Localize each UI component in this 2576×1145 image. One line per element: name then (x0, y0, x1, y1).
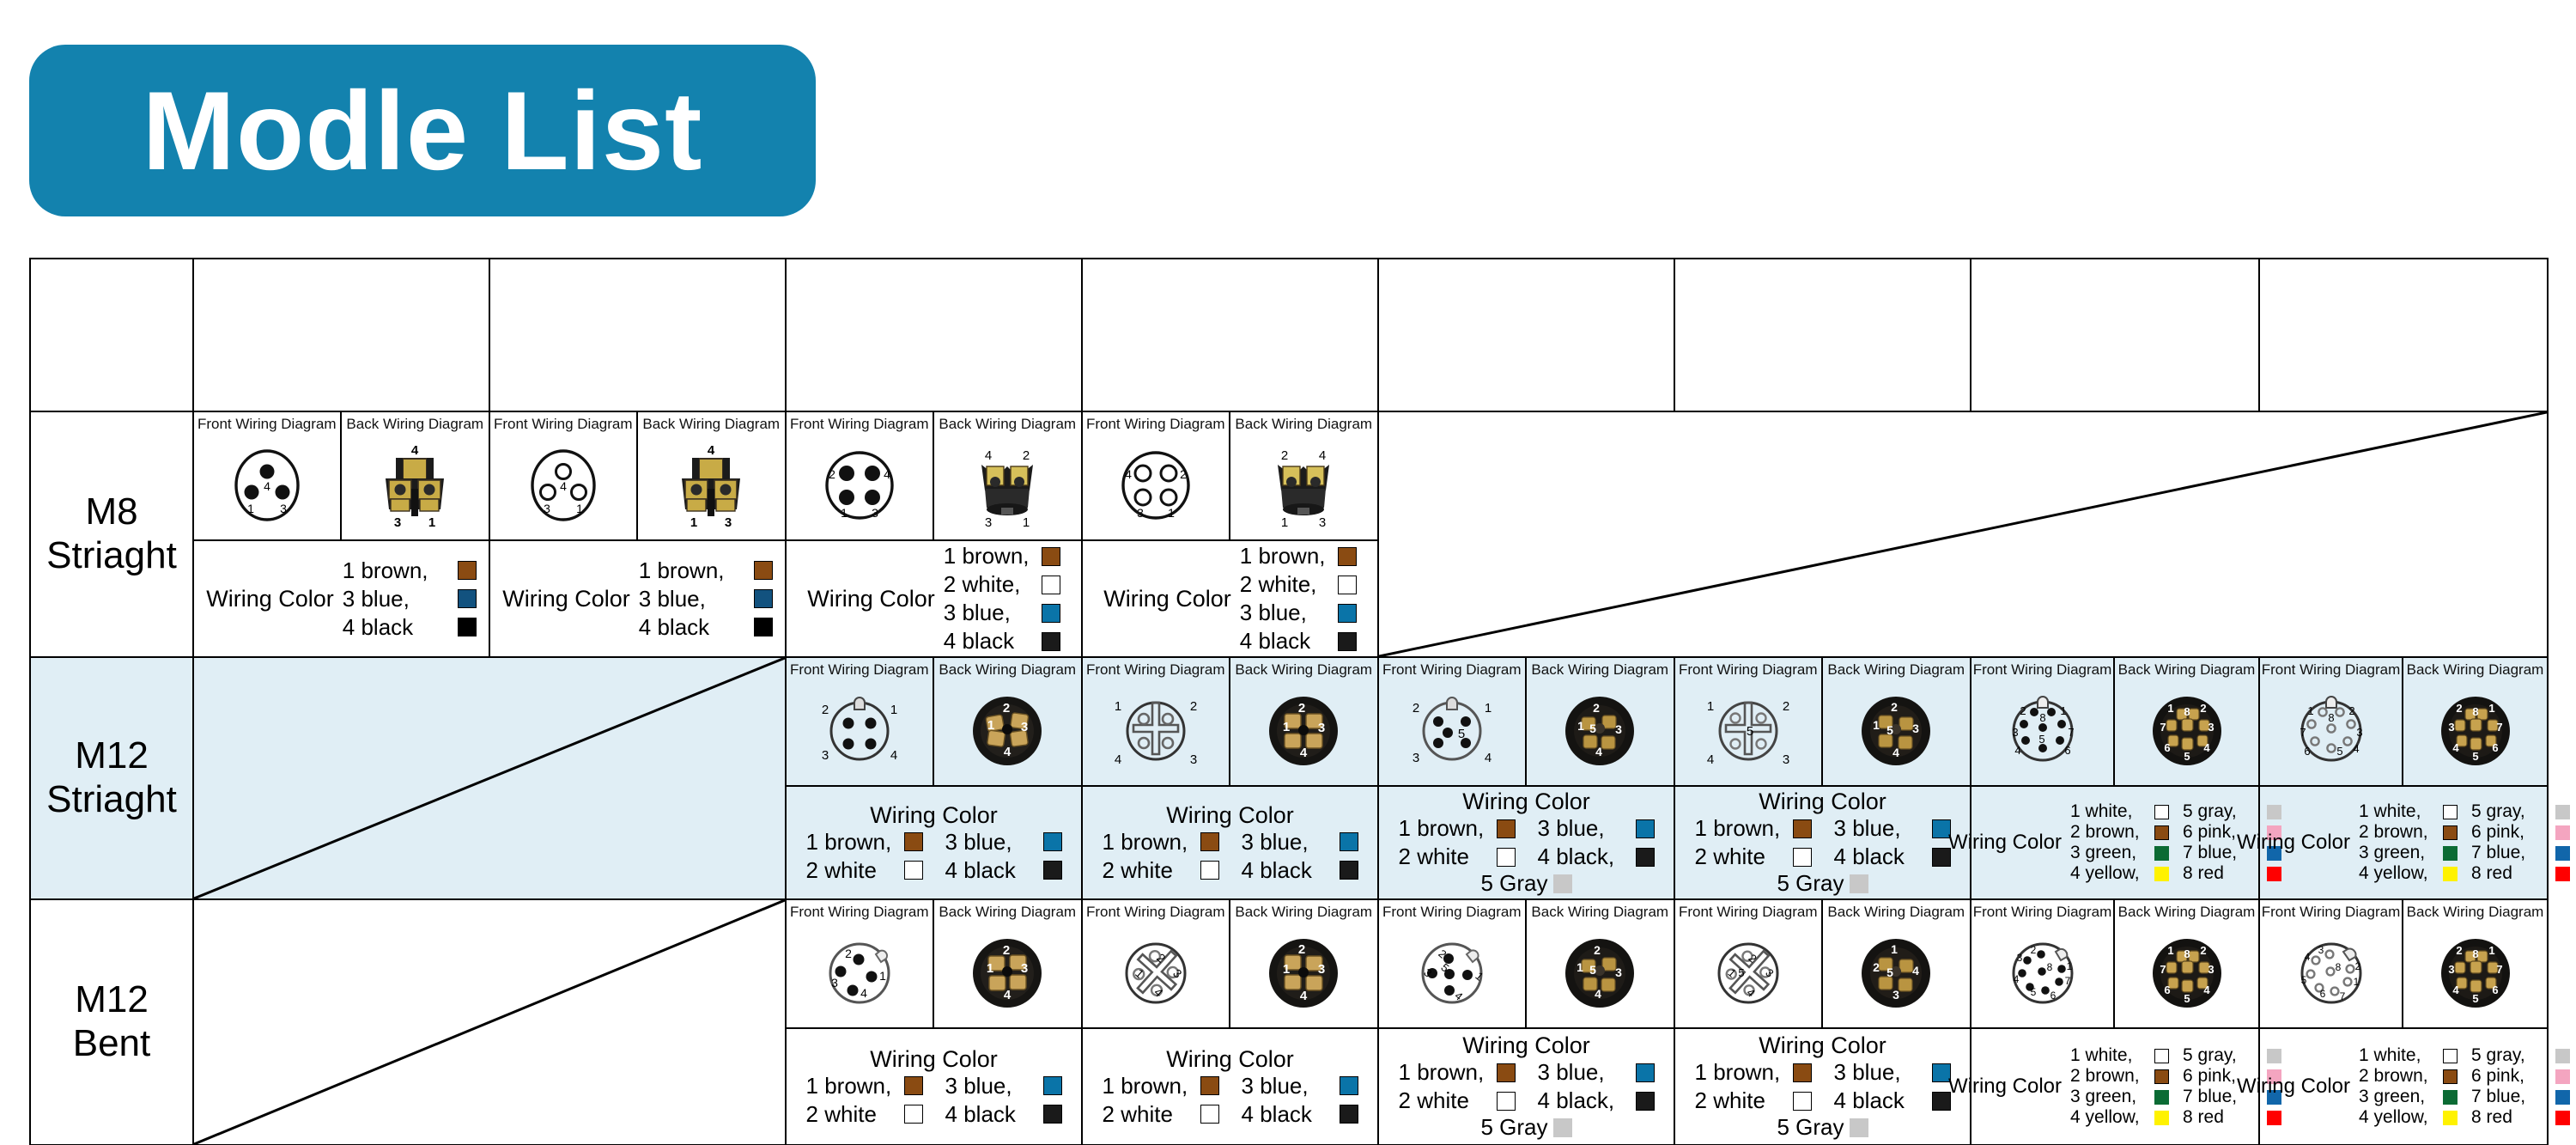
wire-name: yellow, (2086, 1107, 2140, 1127)
wire-num: 1 (1399, 815, 1411, 841)
back-diagram-cell: Back Wiring Diagram (1527, 658, 1674, 785)
m12-bent-5pin-female-back-icon: 2 1 4 3 5 (1849, 920, 1943, 1027)
wire-name: black (1852, 1087, 1905, 1113)
wire-pair: 4 black (944, 628, 1060, 655)
header-col-3pin-female: 3pin Female (489, 259, 786, 411)
svg-text:2: 2 (1873, 960, 1880, 974)
svg-text:2: 2 (1413, 701, 1419, 716)
rowlabel-line1: M8 (31, 490, 192, 534)
m12-8pin-male-back-icon: 1 2 7 3 6 4 8 5 (2142, 678, 2233, 785)
wiring-color-label: Wiring Color (1948, 1075, 2062, 1099)
wire-name: gray, (2487, 801, 2525, 821)
wire-pair: 4 black (1242, 1101, 1358, 1128)
svg-text:2: 2 (822, 703, 829, 717)
wire-name: blue, (963, 829, 1012, 855)
front-diagram-cell: Front Wiring Diagram (1971, 900, 2115, 1027)
wire-pair: 1 brown, (1103, 1073, 1219, 1099)
wire-name: white (1417, 844, 1469, 869)
rowlabel-m12-straight: M12 Striaght (30, 657, 193, 899)
wire-num: 4 (343, 614, 355, 640)
wire-num: 2 (2070, 1066, 2081, 1086)
wiring-color-section: Wiring Color 1 white, 5 gray, 2 brown, 6… (2260, 785, 2547, 898)
wire-name: Gray (1795, 1114, 1844, 1140)
wire-pair: 6 pink, (2471, 822, 2570, 843)
wire-pair: 3 blue, (1242, 1073, 1358, 1099)
cell-m12-bent-4pin-female[interactable]: Front Wiring Diagram (1082, 899, 1378, 1145)
wire-swatch (2443, 1090, 2458, 1105)
cell-m12-bent-4pin-male[interactable]: Front Wiring Diagram (786, 899, 1082, 1145)
svg-text:3: 3 (394, 515, 401, 530)
wire-pair-gray: 5 Gray (1777, 870, 1868, 897)
wire-name: white (824, 857, 877, 883)
wire-name: white, (962, 571, 1020, 597)
wire-num: 1 (2359, 801, 2369, 821)
cell-m12-straight-3pin-not-available (193, 657, 786, 899)
wire-swatch (1338, 604, 1357, 623)
wire-num: 7 (2471, 1087, 2482, 1106)
wiring-color-section: Wiring Color 1 brown, 2 white, (1083, 539, 1377, 656)
wiring-color-section: Wiring Color 1 brown, 3 blue, (1083, 785, 1377, 898)
wire-num: 4 (1834, 1087, 1846, 1113)
svg-text:2: 2 (1891, 700, 1898, 714)
svg-text:1: 1 (987, 961, 993, 976)
svg-text:3: 3 (1615, 722, 1622, 736)
svg-text:5: 5 (2300, 974, 2306, 986)
wire-num: 4 (1834, 844, 1846, 869)
cell-m8-4pin-female[interactable]: Front Wiring Diagram 4 (1082, 411, 1378, 657)
wire-name: red (2487, 1107, 2512, 1127)
wire-pair: 1 white, (2070, 1045, 2169, 1066)
wire-name: blue, (1556, 815, 1604, 841)
svg-text:3: 3 (2318, 944, 2324, 956)
m12-4pin-female-front-icon: 1 2 4 3 (1103, 678, 1209, 785)
svg-text:3: 3 (2356, 726, 2362, 739)
front-diagram-caption: Front Wiring Diagram (197, 417, 337, 432)
front-diagram-caption: Front Wiring Diagram (1973, 904, 2112, 920)
svg-text:1: 1 (2167, 702, 2173, 715)
wiring-color-section: Wiring Color 1 white, 5 gray, 2 brown, 6… (2260, 1027, 2547, 1144)
wire-pair: 7 blue, (2471, 843, 2570, 863)
back-diagram-cell: Back Wiring Diagram (1823, 900, 1971, 1027)
wire-name: brown, (2086, 822, 2140, 842)
wire-swatch (754, 589, 773, 608)
wire-pair-gray: 5 Gray (1777, 1114, 1868, 1141)
wire-pair: 2 white, (944, 571, 1060, 598)
svg-text:1: 1 (1577, 719, 1584, 733)
m8-4pin-female-front-icon: 4 2 3 1 (1104, 432, 1207, 539)
wire-num: 3 (2070, 843, 2081, 862)
wire-num: 2 (1240, 571, 1252, 597)
wiring-color-label: Wiring Color (1462, 789, 1590, 815)
wire-pair: 4 black (639, 614, 773, 641)
m12-8pin-female-front-icon: 1 2 7 3 6 4 8 5 (2281, 678, 2382, 785)
cell-m12-straight-8pin-male[interactable]: Front Wiring Diagram (1971, 657, 2259, 899)
wire-pair: 2 white (1399, 844, 1516, 870)
wire-swatch (1497, 848, 1516, 867)
wire-num: 4 (1240, 628, 1252, 654)
back-diagram-cell: Back Wiring Diagram 4 (342, 412, 489, 539)
svg-text:4: 4 (1125, 467, 1132, 481)
svg-text:5: 5 (2472, 992, 2478, 1005)
wire-num: 4 (1242, 857, 1254, 883)
header-col-5pin-female: 5pin Female (1674, 259, 1971, 411)
svg-text:6: 6 (2492, 984, 2498, 996)
table-header: Core 3pin Male 3pin Female 4pin Male 4pi… (30, 259, 2548, 411)
front-diagram-cell: Front Wiring Diagram 4 3 (490, 412, 638, 539)
wire-num: 3 (945, 1073, 957, 1099)
wire-swatch (2154, 805, 2169, 819)
wire-name: gray, (2198, 801, 2237, 821)
wire-swatch (1338, 547, 1357, 566)
page-title-banner: Modle List (29, 45, 816, 216)
svg-text:8: 8 (2184, 947, 2190, 960)
row-m12-bent: M12 Bent Front Wiring Diagr (30, 899, 2548, 1145)
wiring-color-label: Wiring Color (2237, 831, 2350, 855)
m12-8pin-male-front-icon: 2 1 3 7 4 6 8 5 (1992, 678, 2093, 785)
front-diagram-caption: Front Wiring Diagram (494, 417, 633, 432)
cell-m8-3pin-female[interactable]: Front Wiring Diagram 4 3 (489, 411, 786, 657)
wire-swatch (1043, 1076, 1062, 1095)
back-diagram-caption: Back Wiring Diagram (1235, 662, 1372, 678)
row-m12-straight: M12 Striaght Fro (30, 657, 2548, 899)
wire-num: 2 (2070, 822, 2081, 842)
wire-pair: 4 black (945, 857, 1062, 884)
svg-text:3: 3 (1318, 962, 1325, 977)
wire-swatch (754, 618, 773, 636)
wire-num: 1 (1399, 1059, 1411, 1085)
wire-pair: 3 blue, (945, 829, 1062, 856)
wire-name: brown, (2374, 822, 2428, 842)
wire-swatch (2555, 867, 2570, 881)
svg-text:5: 5 (2336, 745, 2342, 758)
wire-pair-gray: 5 Gray (1480, 1114, 1571, 1141)
wire-name: Gray (1499, 1114, 1547, 1140)
wire-num: 1 (806, 1073, 818, 1099)
svg-text:7: 7 (2068, 726, 2074, 739)
cell-m8-4pin-male[interactable]: Front Wiring Diagram 2 (786, 411, 1082, 657)
svg-text:5: 5 (1886, 965, 1893, 979)
wire-name: blue, (2198, 1087, 2238, 1106)
svg-text:6: 6 (2164, 984, 2170, 996)
front-diagram-caption: Front Wiring Diagram (790, 417, 929, 432)
cell-m12-bent-5pin-male[interactable]: Front Wiring Diagram (1378, 899, 1674, 1145)
wire-num: 1 (806, 829, 818, 855)
wire-pair: 1 brown, (944, 543, 1060, 569)
svg-text:1: 1 (1891, 942, 1898, 956)
back-diagram-caption: Back Wiring Diagram (939, 662, 1076, 678)
svg-text:4: 4 (2353, 742, 2359, 755)
cell-m12-bent-8pin-female[interactable]: Front Wiring Diagram (2259, 899, 2548, 1145)
wire-num: 3 (2070, 1087, 2081, 1106)
front-diagram-cell: Front Wiring Diagram 2 (787, 412, 934, 539)
svg-text:3: 3 (1137, 506, 1144, 520)
wire-num: 1 (944, 543, 956, 569)
svg-text:5: 5 (2184, 992, 2190, 1005)
wire-name: blue, (1260, 1073, 1308, 1099)
m12-bent-8pin-female-back-icon: 2 1 3 7 4 6 8 5 (2430, 920, 2521, 1027)
cell-m12-bent-5pin-female[interactable]: Front Wiring Diagram (1674, 899, 1971, 1145)
m8-3pin-female-front-icon: 4 3 1 (512, 432, 615, 539)
wire-name: brown, (1121, 829, 1188, 855)
wire-swatch (2154, 1111, 2169, 1125)
wire-pair: 3 green, (2070, 1087, 2169, 1107)
wire-name: blue, (1852, 1059, 1900, 1085)
back-diagram-cell: Back Wiring Diagram (934, 658, 1082, 785)
svg-text:4: 4 (985, 448, 992, 463)
cell-m12-bent-8pin-male[interactable]: Front Wiring Diagram (1971, 899, 2259, 1145)
header-col-8pin-female: 8pin Female (2259, 259, 2548, 411)
wire-name: brown, (1417, 1059, 1484, 1085)
svg-text:1: 1 (1115, 699, 1121, 714)
wire-num: 4 (1538, 1087, 1550, 1113)
front-diagram-caption: Front Wiring Diagram (1973, 662, 2112, 678)
wire-num: 8 (2183, 863, 2193, 883)
svg-text:6: 6 (2050, 990, 2056, 1002)
wire-swatch (1042, 576, 1060, 594)
svg-text:1: 1 (2066, 960, 2072, 972)
svg-text:7: 7 (2496, 721, 2502, 734)
svg-text:4: 4 (2013, 973, 2019, 985)
wire-name: pink, (2198, 822, 2236, 842)
svg-text:2: 2 (2200, 702, 2206, 715)
svg-text:5: 5 (1589, 722, 1596, 735)
wire-num: 4 (2359, 1107, 2369, 1127)
svg-text:2: 2 (2200, 944, 2206, 957)
svg-text:3: 3 (544, 502, 550, 515)
wire-swatch (1636, 1063, 1655, 1082)
wire-swatch (1200, 832, 1219, 851)
wire-num: 5 (1777, 1114, 1789, 1140)
wire-swatch (2555, 846, 2570, 861)
wire-name: pink, (2487, 822, 2524, 842)
wire-pair: 1 brown, (1103, 829, 1219, 856)
svg-text:5: 5 (1886, 723, 1893, 737)
svg-text:4: 4 (1319, 448, 1326, 463)
wire-swatch (2443, 825, 2458, 840)
svg-text:4: 4 (1115, 752, 1121, 767)
svg-text:1: 1 (2060, 704, 2066, 717)
wire-num: 5 (2183, 1045, 2193, 1065)
wire-name: white, (2086, 1045, 2133, 1065)
back-diagram-caption: Back Wiring Diagram (1235, 417, 1372, 432)
svg-text:2: 2 (1190, 699, 1197, 714)
wire-swatch (904, 832, 923, 851)
wire-name: brown, (962, 543, 1029, 569)
wire-swatch (1338, 632, 1357, 651)
cell-m8-3pin-male[interactable]: Front Wiring Diagram 4 1 (193, 411, 489, 657)
back-diagram-caption: Back Wiring Diagram (1827, 662, 1965, 678)
svg-text:4: 4 (1004, 745, 1012, 759)
wire-num: 3 (2359, 1087, 2369, 1106)
svg-text:6: 6 (2319, 988, 2325, 1000)
m12-bent-4pin-male-back-icon: 1 2 3 4 (960, 920, 1054, 1027)
wire-name: blue, (962, 600, 1010, 625)
cell-m12-bent-3pin-not-available (193, 899, 786, 1145)
cell-m12-straight-4pin-male[interactable]: Front Wiring Diagram (786, 657, 1082, 899)
front-diagram-caption: Front Wiring Diagram (1382, 904, 1522, 920)
m12-4pin-female-back-icon: 1 2 3 4 (1256, 678, 1351, 785)
svg-text:6: 6 (2064, 744, 2070, 757)
wire-name: white (1713, 844, 1765, 869)
wire-num: 1 (2070, 1045, 2081, 1065)
wire-swatch (1636, 819, 1655, 838)
wiring-color-section: Wiring Color 1 brown, 3 blue, (1379, 785, 1674, 898)
wire-pair: 1 white, (2359, 1045, 2458, 1066)
wire-name: blue, (1852, 815, 1900, 841)
svg-text:8: 8 (2184, 705, 2190, 718)
header-col-3pin-male: 3pin Male (193, 259, 489, 411)
wire-swatch (1553, 1118, 1572, 1137)
cell-m12-straight-4pin-female[interactable]: Front Wiring Diagram (1082, 657, 1378, 899)
back-diagram-cell: Back Wiring Diagram (934, 900, 1082, 1027)
wire-name: brown, (2374, 1066, 2428, 1086)
cell-m12-straight-5pin-male[interactable]: Front Wiring Diagram (1378, 657, 1674, 899)
wire-swatch (1793, 819, 1812, 838)
wire-name: blue, (1556, 1059, 1604, 1085)
wire-num: 2 (1399, 1087, 1411, 1113)
wire-swatch (1793, 848, 1812, 867)
wire-num: 4 (2070, 863, 2081, 883)
svg-text:1: 1 (2488, 944, 2494, 957)
wire-swatch (1497, 819, 1516, 838)
wire-name: brown, (824, 1073, 891, 1099)
wire-num: 8 (2183, 1107, 2193, 1127)
wire-num: 1 (639, 557, 651, 583)
front-diagram-cell: Front Wiring Diagram (2260, 900, 2403, 1027)
wire-name: white (1713, 1087, 1765, 1113)
wire-name: pink, (2198, 1066, 2236, 1086)
svg-text:3: 3 (1190, 752, 1197, 767)
wire-pair: 1 brown, (1695, 1059, 1812, 1086)
back-diagram-caption: Back Wiring Diagram (642, 417, 780, 432)
wire-pair-gray: 5 Gray (1480, 870, 1571, 897)
wire-name: blue, (657, 586, 705, 612)
wire-pair: 3 green, (2359, 843, 2458, 863)
wire-num: 6 (2183, 822, 2193, 842)
svg-text:8: 8 (2472, 947, 2478, 960)
wire-name: green, (2086, 843, 2137, 862)
wire-num: 1 (1240, 543, 1252, 569)
cell-m12-straight-8pin-female[interactable]: Front Wiring Diagram (2259, 657, 2548, 899)
svg-text:4: 4 (1912, 964, 1919, 978)
svg-text:3: 3 (872, 506, 878, 520)
back-diagram-caption: Back Wiring Diagram (939, 417, 1076, 432)
wire-pair: 4 yellow, (2070, 863, 2169, 884)
svg-text:1: 1 (1485, 701, 1492, 716)
front-diagram-caption: Front Wiring Diagram (790, 904, 929, 920)
m8-4pin-female-back-icon: 2 4 (1248, 432, 1359, 539)
svg-text:2: 2 (1593, 701, 1600, 715)
wire-swatch (2443, 1069, 2458, 1084)
wire-num: 7 (2471, 843, 2482, 862)
m12-8pin-female-back-icon: 2 1 3 7 4 6 8 5 (2430, 678, 2521, 785)
wire-swatch (1200, 861, 1219, 880)
rowlabel-m12-bent: M12 Bent (30, 899, 193, 1145)
svg-text:2: 2 (1003, 701, 1010, 716)
svg-text:2: 2 (1298, 701, 1305, 716)
wire-pair: 3 blue, (1834, 815, 1951, 842)
wiring-color-section: Wiring Color 1 brown, 3 blue, (490, 539, 785, 656)
wire-pair: 4 black (945, 1101, 1062, 1128)
wiring-color-label: Wiring Color (1759, 789, 1886, 815)
wire-num: 4 (1242, 1101, 1254, 1127)
wire-num: 8 (2471, 1107, 2482, 1127)
wiring-color-section: Wiring Color 1 white, 5 gray, 2 brown, 6… (1971, 785, 2258, 898)
wire-pair: 2 white (806, 857, 923, 884)
svg-text:3: 3 (1615, 965, 1622, 979)
wire-pair: 6 pink, (2471, 1066, 2570, 1087)
svg-text:4: 4 (884, 467, 890, 481)
wire-swatch (1340, 1105, 1358, 1124)
wire-pair: 3 blue, (343, 586, 477, 612)
svg-text:1: 1 (1577, 960, 1583, 974)
svg-text:1: 1 (841, 506, 848, 520)
wire-num: 2 (2359, 822, 2369, 842)
svg-text:3: 3 (1783, 752, 1789, 767)
svg-text:6: 6 (2164, 741, 2170, 754)
model-list-table-wrapper: Core 3pin Male 3pin Female 4pin Male 4pi… (29, 258, 2547, 1141)
m8-4pin-male-back-icon: 4 2 (951, 432, 1063, 539)
wire-num: 2 (1103, 857, 1115, 883)
cell-m12-straight-5pin-female[interactable]: Front Wiring Diagram (1674, 657, 1971, 899)
svg-text:8: 8 (2328, 711, 2334, 724)
wiring-color-label: Wiring Color (807, 586, 935, 612)
front-diagram-cell: Front Wiring Diagram (1675, 900, 1823, 1027)
svg-text:2: 2 (2456, 702, 2462, 715)
svg-text:8: 8 (2039, 711, 2045, 724)
svg-text:3: 3 (1893, 988, 1899, 1002)
wire-swatch (2443, 846, 2458, 861)
wire-num: 3 (1240, 600, 1252, 625)
wire-swatch (2154, 1049, 2169, 1063)
wire-num: 3 (1538, 1059, 1550, 1085)
header-row: Core 3pin Male 3pin Female 4pin Male 4pi… (30, 259, 2548, 411)
wiring-color-label: Wiring Color (2237, 1075, 2350, 1099)
wire-name: yellow, (2374, 863, 2428, 883)
wire-num: 3 (1242, 829, 1254, 855)
svg-text:3: 3 (280, 502, 287, 515)
wire-pair: 7 blue, (2471, 1087, 2570, 1107)
back-diagram-cell: Back Wiring Diagram (1527, 900, 1674, 1027)
wire-name: black, (1556, 1087, 1614, 1113)
wire-name: brown, (1713, 1059, 1780, 1085)
svg-text:2: 2 (2348, 704, 2354, 717)
back-diagram-caption: Back Wiring Diagram (2407, 904, 2544, 920)
m12-5pin-male-front-icon: 5 2 1 3 4 (1399, 678, 1505, 785)
svg-text:1: 1 (879, 969, 886, 983)
wire-swatch (2154, 1090, 2169, 1105)
back-diagram-caption: Back Wiring Diagram (1531, 662, 1668, 678)
svg-text:4: 4 (560, 479, 567, 493)
svg-text:5: 5 (1738, 966, 1744, 979)
wiring-color-label: Wiring Color (1166, 802, 1294, 829)
svg-text:4: 4 (411, 443, 419, 458)
wire-pair: 1 brown, (343, 557, 477, 584)
rowlabel-line2: Bent (31, 1022, 192, 1066)
wire-pair: 1 brown, (806, 1073, 923, 1099)
wire-swatch (458, 618, 477, 636)
m12-bent-8pin-male-back-icon: 1 2 7 3 6 4 8 5 (2142, 920, 2233, 1027)
wire-swatch (1340, 832, 1358, 851)
wire-num: 5 (2471, 801, 2482, 821)
wire-num: 4 (945, 857, 957, 883)
svg-text:7: 7 (2339, 990, 2345, 1002)
rowlabel-line1: M12 (31, 734, 192, 778)
wiring-color-label: Wiring Color (870, 802, 998, 829)
wire-num: 7 (2183, 1087, 2193, 1106)
wire-swatch (754, 561, 773, 580)
svg-text:4: 4 (2304, 951, 2310, 963)
